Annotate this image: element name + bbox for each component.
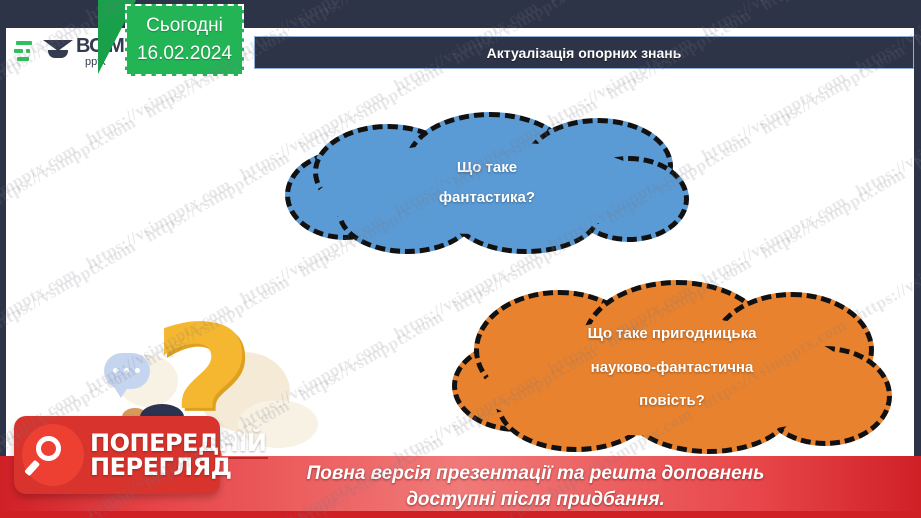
slide-title-bar: Актуалізація опорних знань — [254, 36, 914, 69]
today-label: Сьогодні — [146, 12, 223, 41]
preview-label-line-1: ПОПЕРЕДНІЙ — [90, 431, 266, 455]
cloud-blue-text: Що таке фантастика? — [285, 112, 689, 254]
preview-label-line-2: ПЕРЕГЛЯД — [90, 455, 266, 479]
cloud-orange-line-2: науково-фантастична — [591, 351, 754, 385]
cloud-blue-line-2: фантастика? — [439, 183, 535, 213]
cloud-question-blue: Що таке фантастика? — [285, 112, 689, 254]
graduation-cap-icon — [43, 36, 73, 68]
banner-line-2: доступні після придбання. — [307, 487, 765, 513]
today-date: 16.02.2024 — [137, 40, 232, 69]
preview-badge[interactable]: ПОПЕРЕДНІЙ ПЕРЕГЛЯД — [14, 416, 220, 494]
cloud-orange-text: Що таке пригодницька науково-фантастична… — [452, 280, 892, 455]
cloud-orange-line-3: повість? — [639, 384, 705, 418]
page-title: Актуалізація опорних знань — [487, 45, 682, 61]
cloud-orange-line-1: Що таке пригодницька — [588, 317, 757, 351]
banner-bottom-strip — [0, 511, 921, 518]
cloud-question-orange: Що таке пригодницька науково-фантастична… — [452, 280, 892, 455]
today-date-badge: Сьогодні 16.02.2024 — [125, 4, 244, 76]
speech-bubble-icon — [104, 353, 150, 389]
speed-lines-icon — [14, 37, 40, 67]
slide-root: ? Що таке фантастика? Що таке пригодниць… — [0, 0, 921, 518]
banner-line-1: Повна версія презентації та решта доповн… — [307, 461, 765, 487]
cloud-blue-line-1: Що таке — [457, 153, 517, 183]
magnifier-icon — [22, 424, 84, 486]
